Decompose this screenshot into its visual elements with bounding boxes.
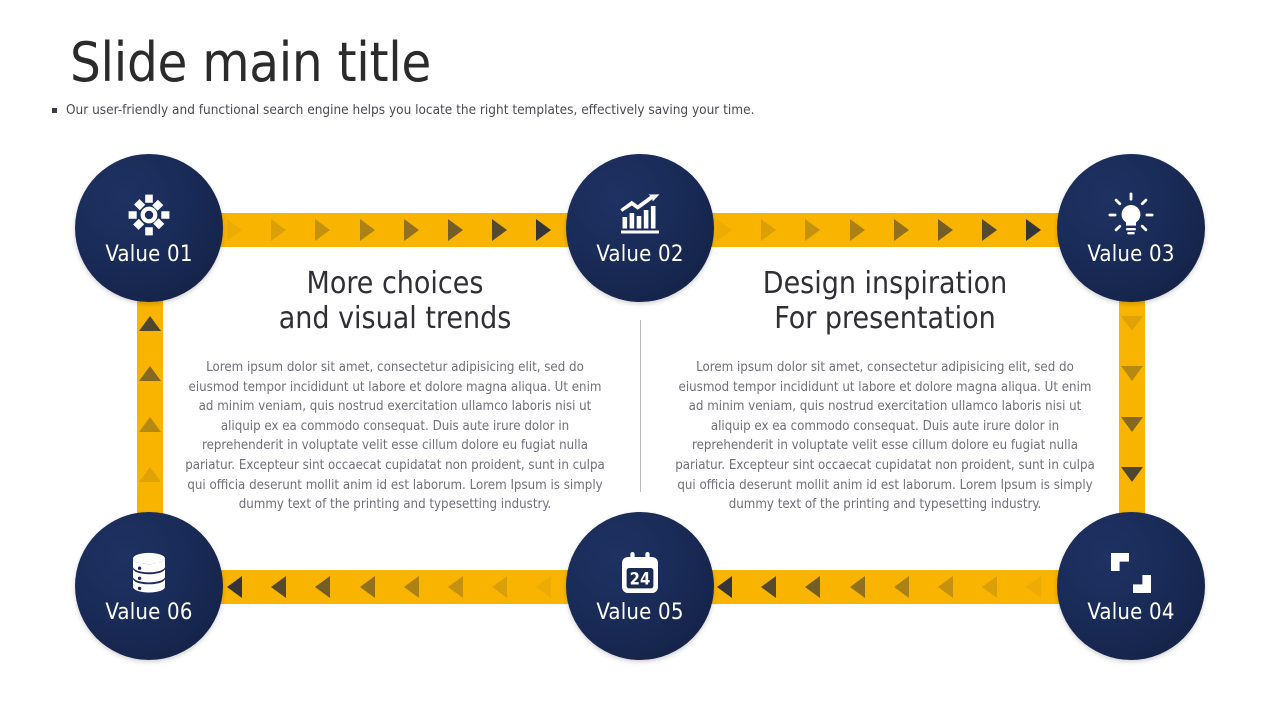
node-value-02[interactable]: Value 02 bbox=[566, 154, 714, 302]
arrow-marker-r bbox=[271, 219, 286, 241]
arrow-marker-l bbox=[315, 576, 330, 598]
column-heading-right: Design inspiration For presentation bbox=[675, 266, 1095, 336]
calendar-number: 24 bbox=[630, 570, 651, 589]
gear-icon bbox=[123, 189, 175, 241]
subtitle-row: Our user-friendly and functional search … bbox=[52, 101, 754, 119]
arrow-marker-l bbox=[404, 576, 419, 598]
arrow-marker-r bbox=[315, 219, 330, 241]
arrow-marker-l bbox=[271, 576, 286, 598]
bullet-square-icon bbox=[52, 108, 57, 113]
arrow-marker-d bbox=[1121, 467, 1143, 482]
arrow-marker-d bbox=[1121, 417, 1143, 432]
arrow-marker-r bbox=[850, 219, 865, 241]
arrow-marker-r bbox=[805, 219, 820, 241]
node-value-01[interactable]: Value 01 bbox=[75, 154, 223, 302]
arrow-marker-r bbox=[982, 219, 997, 241]
arrow-marker-l bbox=[850, 576, 865, 598]
node-label: Value 04 bbox=[1087, 601, 1174, 625]
text-column-left: More choices and visual trends Lorem ips… bbox=[185, 266, 605, 515]
arrow-marker-l bbox=[1026, 576, 1041, 598]
arrow-marker-r bbox=[360, 219, 375, 241]
arrow-marker-l bbox=[761, 576, 776, 598]
arrow-marker-d bbox=[1121, 366, 1143, 381]
arrow-marker-l bbox=[536, 576, 551, 598]
column-body-left: Lorem ipsum dolor sit amet, consectetur … bbox=[185, 358, 605, 515]
arrow-marker-r bbox=[761, 219, 776, 241]
arrow-marker-r bbox=[1026, 219, 1041, 241]
node-label: Value 06 bbox=[105, 601, 192, 625]
lightbulb-idea-icon bbox=[1105, 189, 1157, 241]
node-label: Value 03 bbox=[1087, 243, 1174, 267]
column-heading-left: More choices and visual trends bbox=[185, 266, 605, 336]
arrow-marker-u bbox=[139, 316, 161, 331]
text-column-right: Design inspiration For presentation Lore… bbox=[675, 266, 1095, 515]
page-title: Slide main title bbox=[70, 30, 431, 96]
arrow-marker-l bbox=[227, 576, 242, 598]
node-value-05[interactable]: 24 Value 05 bbox=[566, 512, 714, 660]
arrow-marker-l bbox=[938, 576, 953, 598]
node-label: Value 05 bbox=[596, 601, 683, 625]
column-body-right: Lorem ipsum dolor sit amet, consectetur … bbox=[675, 358, 1095, 515]
node-label: Value 02 bbox=[596, 243, 683, 267]
arrow-marker-r bbox=[492, 219, 507, 241]
arrow-marker-l bbox=[805, 576, 820, 598]
node-value-06[interactable]: Value 06 bbox=[75, 512, 223, 660]
expand-arrows-icon bbox=[1105, 547, 1157, 599]
arrow-marker-l bbox=[492, 576, 507, 598]
slide-canvas: Slide main title Our user-friendly and f… bbox=[0, 0, 1280, 720]
database-stack-icon bbox=[123, 547, 175, 599]
bar-chart-growth-icon bbox=[614, 189, 666, 241]
arrow-marker-r bbox=[536, 219, 551, 241]
node-value-03[interactable]: Value 03 bbox=[1057, 154, 1205, 302]
arrow-marker-r bbox=[404, 219, 419, 241]
arrow-marker-r bbox=[938, 219, 953, 241]
node-value-04[interactable]: Value 04 bbox=[1057, 512, 1205, 660]
arrow-marker-l bbox=[894, 576, 909, 598]
arrow-marker-u bbox=[139, 467, 161, 482]
node-label: Value 01 bbox=[105, 243, 192, 267]
arrow-marker-l bbox=[448, 576, 463, 598]
arrow-marker-l bbox=[360, 576, 375, 598]
calendar-24-icon: 24 bbox=[614, 547, 666, 599]
subtitle-text: Our user-friendly and functional search … bbox=[66, 101, 754, 119]
arrow-marker-u bbox=[139, 417, 161, 432]
column-divider bbox=[640, 320, 641, 492]
arrow-marker-r bbox=[227, 219, 242, 241]
arrow-marker-l bbox=[717, 576, 732, 598]
arrow-marker-r bbox=[894, 219, 909, 241]
arrow-marker-r bbox=[448, 219, 463, 241]
arrow-marker-r bbox=[717, 219, 732, 241]
arrow-marker-d bbox=[1121, 316, 1143, 331]
arrow-marker-l bbox=[982, 576, 997, 598]
arrow-marker-u bbox=[139, 366, 161, 381]
